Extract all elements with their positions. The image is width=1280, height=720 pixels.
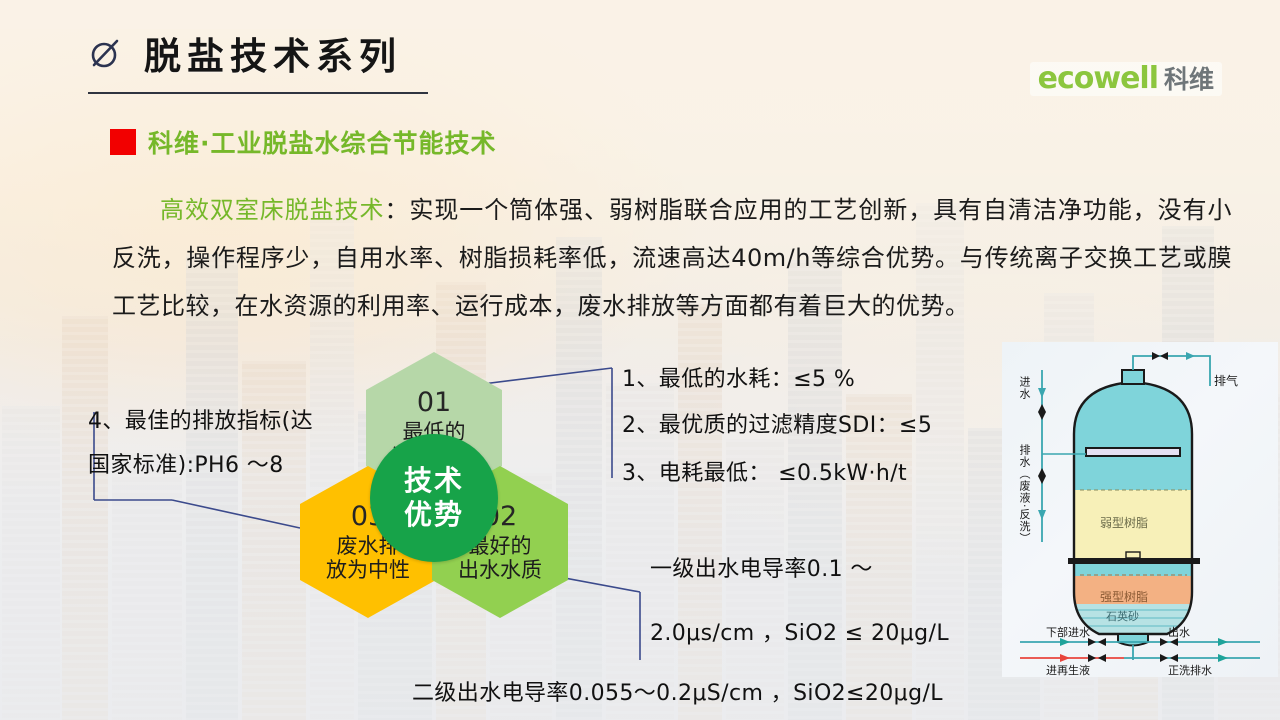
page-title: 脱盐技术系列	[144, 26, 402, 80]
diagram-label-inlet: 进水	[1016, 376, 1032, 400]
diagram-label-exhaust: 排气	[1214, 372, 1238, 389]
subtitle-text: 科维·工业脱盐水综合节能技术	[148, 124, 497, 160]
diagram-label-outlet: 出水	[1168, 624, 1190, 640]
diagram-label-regen: 进再生液	[1046, 662, 1090, 677]
callout-right-2: 2、最优质的过滤精度SDI：≤5	[622, 404, 932, 448]
diagram-label-rinse-drain: 正洗排水	[1168, 662, 1212, 677]
hexagon-caption-line2: 出水水质	[458, 558, 542, 583]
diagram-label-strong-resin: 强型树脂	[1100, 588, 1148, 605]
red-square-bullet-icon	[110, 129, 136, 155]
diagram-label-drain: 排水（废液·反洗）	[1016, 444, 1032, 545]
callout-left: 4、最佳的排放指标(达 国家标准):PH6 ～8	[88, 400, 358, 488]
slide-canvas: 脱盐技术系列 ecowell 科维 科维·工业脱盐水综合节能技术 高效双室床脱盐…	[0, 0, 1280, 720]
paragraph-highlight: 高效双室床脱盐技术	[160, 196, 384, 224]
diagram-label-weak-resin: 弱型树脂	[1100, 514, 1148, 531]
hexagon-cluster: 01 最低的 运行成本 03 废水排 放为中性 02 最好的 出水水质 技术 优…	[284, 352, 584, 644]
equipment-diagram: 进水 排水（废液·反洗） 排气 弱型树脂 强型树脂 石英砂 下部进水 出水 进再…	[1002, 342, 1278, 677]
diagram-label-bottom-inlet: 下部进水	[1046, 624, 1090, 640]
callout-right-3: 3、电耗最低： ≤0.5kW·h/t	[622, 452, 907, 496]
logo-chinese-name: 科维	[1164, 67, 1214, 92]
callout-left-line1: 4、最佳的排放指标(达	[88, 400, 358, 444]
callout-right-1: 1、最低的水耗：≤5 %	[622, 358, 855, 402]
diagram-label-sand: 石英砂	[1106, 608, 1139, 624]
center-label-line1: 技术	[404, 464, 464, 498]
hexagon-number: 01	[417, 387, 451, 419]
description-paragraph: 高效双室床脱盐技术：实现一个筒体强、弱树脂联合应用的工艺创新，具有自清洁净功能，…	[112, 186, 1232, 330]
header-divider	[88, 92, 428, 94]
page-header: 脱盐技术系列	[88, 26, 402, 80]
section-subtitle: 科维·工业脱盐水综合节能技术	[110, 124, 497, 160]
callout-bottom-2: 2.0μs/cm ，SiO2 ≤ 20μg/L	[650, 612, 949, 656]
hexagon-center-label: 技术 优势	[370, 434, 498, 562]
logo-wordmark: ecowell	[1038, 64, 1158, 94]
hexagon-caption-line2: 放为中性	[326, 558, 410, 583]
center-label-line2: 优势	[404, 498, 464, 532]
slashed-circle-icon	[88, 36, 122, 70]
callout-bottom-3: 二级出水电导率0.055～0.2μS/cm ，SiO2≤20μg/L	[412, 672, 943, 716]
callout-bottom-1: 一级出水电导率0.1 ～	[650, 548, 873, 592]
company-logo: ecowell 科维	[1030, 62, 1222, 96]
callout-left-line2: 国家标准):PH6 ～8	[88, 444, 358, 488]
